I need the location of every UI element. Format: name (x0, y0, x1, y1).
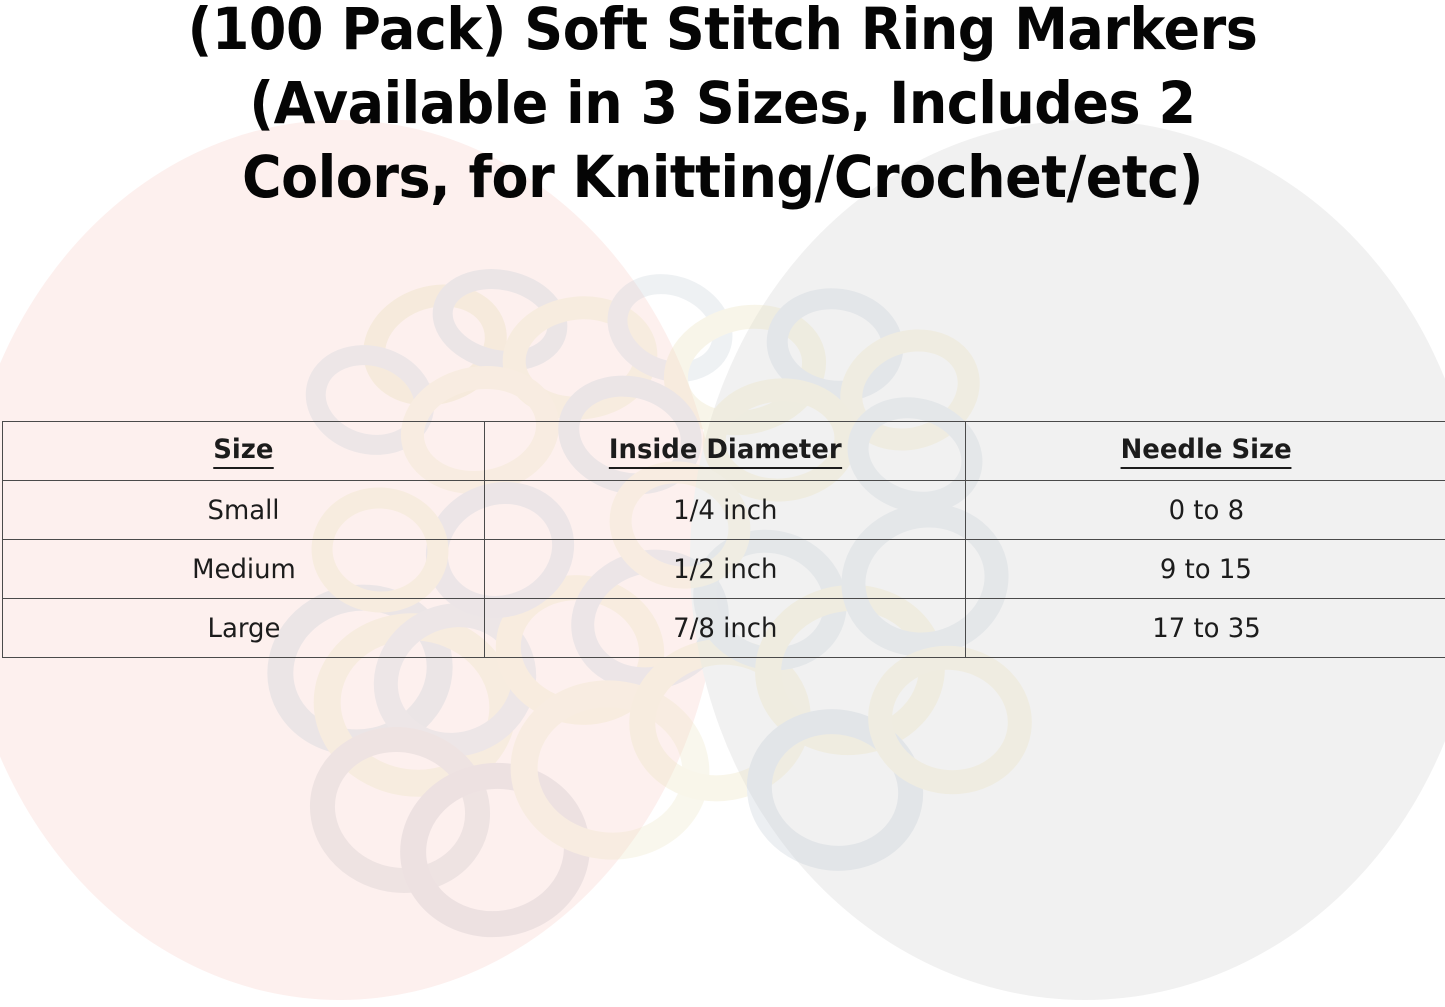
column-header-needle-size: Needle Size (966, 422, 1445, 481)
cell-needle-size-value: 9 to 15 (1160, 554, 1252, 585)
column-header-size: Size (3, 422, 485, 481)
cell-needle-size-value: 17 to 35 (1152, 613, 1260, 644)
cell-needle-size: 0 to 8 (966, 481, 1445, 540)
cell-size-value: Medium (192, 554, 296, 585)
cell-inside-diameter-value: 1/2 inch (673, 554, 777, 585)
column-header-size-label: Size (213, 434, 273, 469)
cell-size-value: Large (207, 613, 280, 644)
sizing-table: Size Inside Diameter Needle Size Small 1… (2, 421, 1445, 658)
cell-size: Medium (3, 540, 485, 599)
cell-size-value: Small (208, 495, 280, 526)
product-infographic: (100 Pack) Soft Stitch Ring Markers (Ava… (0, 0, 1445, 1007)
cell-size: Small (3, 481, 485, 540)
page-title: (100 Pack) Soft Stitch Ring Markers (Ava… (51, 0, 1395, 214)
column-header-inside-diameter: Inside Diameter (485, 422, 966, 481)
column-header-needle-size-label: Needle Size (1120, 434, 1291, 469)
table-row: Medium 1/2 inch 9 to 15 (3, 540, 1445, 599)
cell-needle-size-value: 0 to 8 (1168, 495, 1243, 526)
column-header-inside-diameter-label: Inside Diameter (609, 434, 842, 469)
cell-inside-diameter: 7/8 inch (485, 599, 966, 658)
cell-inside-diameter-value: 1/4 inch (673, 495, 777, 526)
table-row: Large 7/8 inch 17 to 35 (3, 599, 1445, 658)
cell-inside-diameter: 1/4 inch (485, 481, 966, 540)
cell-needle-size: 9 to 15 (966, 540, 1445, 599)
cell-size: Large (3, 599, 485, 658)
cell-needle-size: 17 to 35 (966, 599, 1445, 658)
table-row: Small 1/4 inch 0 to 8 (3, 481, 1445, 540)
table-header-row: Size Inside Diameter Needle Size (3, 422, 1445, 481)
cell-inside-diameter: 1/2 inch (485, 540, 966, 599)
cell-inside-diameter-value: 7/8 inch (673, 613, 777, 644)
